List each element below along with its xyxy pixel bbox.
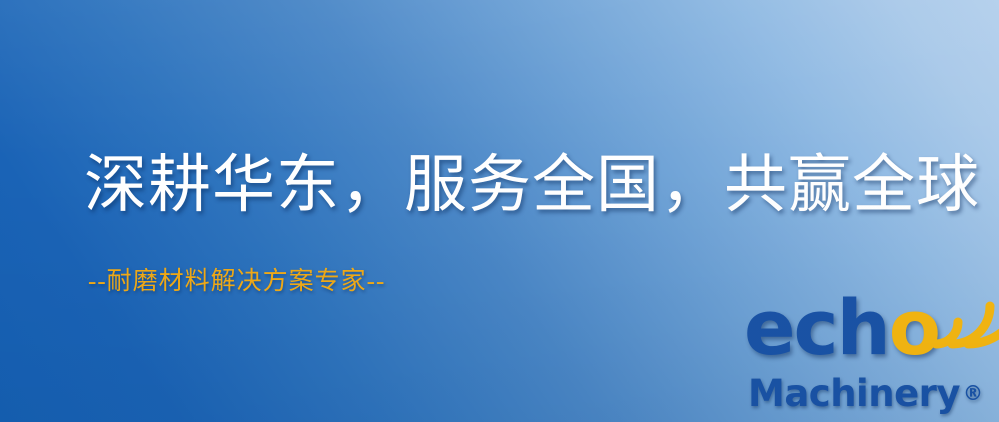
logo-letters-ech: ech — [744, 283, 889, 372]
echo-machinery-logo: echo Machinery® — [742, 296, 999, 422]
logo-company-name-text: Machinery — [748, 372, 960, 415]
logo-wordmark-echo: echo — [744, 290, 939, 366]
registered-trademark-icon: ® — [963, 381, 983, 405]
logo-mark: echo — [742, 296, 999, 380]
logo-company-name: Machinery® — [748, 372, 983, 415]
promo-banner: 深耕华东，服务全国，共赢全球 --耐磨材料解决方案专家-- echo Machi… — [0, 0, 999, 422]
banner-headline: 深耕华东，服务全国，共赢全球 — [84, 152, 980, 218]
echo-waves-icon — [928, 288, 999, 352]
banner-subtitle: --耐磨材料解决方案专家-- — [88, 268, 385, 296]
